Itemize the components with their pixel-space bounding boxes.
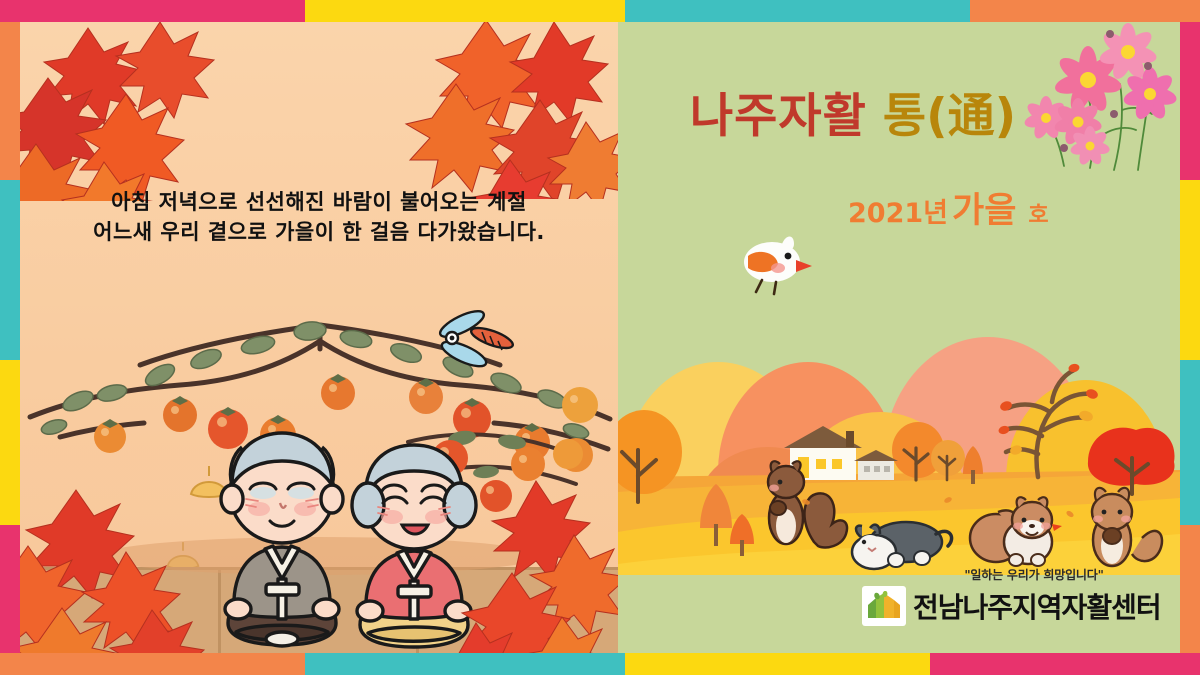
greeting-line-1: 아침 저녁으로 선선해진 바람이 불어오는 계절 bbox=[111, 190, 527, 214]
organization-logo-block: "일하는 우리가 희망입니다" 전남나주지역자활센터 bbox=[862, 566, 1172, 626]
top-bar-magenta bbox=[0, 0, 305, 22]
greeting-line-2: 어느새 우리 곁으로 가을이 한 걸음 다가왔습니다. bbox=[20, 217, 618, 247]
floor-shadow bbox=[100, 537, 540, 575]
newsletter-cover: 아침 저녁으로 선선해진 바람이 불어오는 계절 어느새 우리 곁으로 가을이 … bbox=[0, 0, 1200, 675]
issue-suffix: 호 bbox=[1028, 203, 1048, 228]
maple-leaf-cluster-top-right bbox=[390, 22, 618, 199]
shiba-dog-icon bbox=[970, 497, 1062, 566]
left-bar-orange bbox=[0, 22, 20, 180]
persimmon-branch-illustration bbox=[20, 297, 618, 497]
left-bar-yellow bbox=[0, 360, 20, 525]
ginkgo-leaf-icon bbox=[185, 460, 233, 502]
cat-icon bbox=[852, 522, 952, 569]
right-bar-magenta bbox=[1180, 22, 1200, 180]
logo-slogan: "일하는 우리가 희망입니다" bbox=[884, 566, 1184, 583]
left-bar-teal bbox=[0, 180, 20, 360]
floor-plank-line bbox=[416, 567, 419, 653]
persimmon-cluster-right bbox=[400, 422, 600, 532]
issue-season: 가을 bbox=[952, 191, 1016, 231]
left-bar-magenta bbox=[0, 525, 20, 653]
masthead-main-title: 나주자활 bbox=[690, 77, 867, 146]
autumn-landscape-illustration bbox=[618, 302, 1180, 577]
flying-bird-icon bbox=[730, 228, 820, 298]
masthead: 나주자활통(通) bbox=[618, 77, 1088, 146]
wooden-floor bbox=[20, 567, 618, 653]
dragonfly-icon bbox=[430, 304, 520, 374]
left-panel: 아침 저녁으로 선선해진 바람이 불어오는 계절 어느새 우리 곁으로 가을이 … bbox=[20, 22, 618, 653]
right-panel: 나주자활통(通) 2021년가을호 bbox=[618, 22, 1180, 653]
bottom-bar-yellow bbox=[625, 653, 930, 675]
right-bar-orange bbox=[1180, 525, 1200, 653]
chipmunk-icon bbox=[1092, 488, 1162, 566]
top-bar-orange bbox=[970, 0, 1200, 22]
right-bar-yellow bbox=[1180, 180, 1200, 360]
greeting-text: 아침 저녁으로 선선해진 바람이 불어오는 계절 어느새 우리 곁으로 가을이 … bbox=[20, 187, 618, 248]
issue-year: 2021년 bbox=[848, 198, 948, 229]
bottom-bar-magenta bbox=[930, 653, 1200, 675]
maple-leaf-cluster-top-left bbox=[20, 22, 310, 201]
bottom-bar-orange bbox=[0, 653, 305, 675]
squirrel-icon bbox=[768, 461, 847, 547]
logo-row: 전남나주지역자활센터 bbox=[862, 586, 1172, 626]
right-bar-teal bbox=[1180, 360, 1200, 525]
house-person-logo-icon bbox=[862, 586, 906, 626]
top-bar-yellow bbox=[305, 0, 625, 22]
bottom-bar-teal bbox=[305, 653, 625, 675]
issue-line: 2021년가을호 bbox=[848, 182, 1178, 233]
top-bar-teal bbox=[625, 0, 970, 22]
organization-name: 전남나주지역자활센터 bbox=[913, 586, 1161, 626]
masthead-sub-title: 통(通) bbox=[883, 77, 1016, 146]
floor-plank-line bbox=[218, 567, 221, 653]
